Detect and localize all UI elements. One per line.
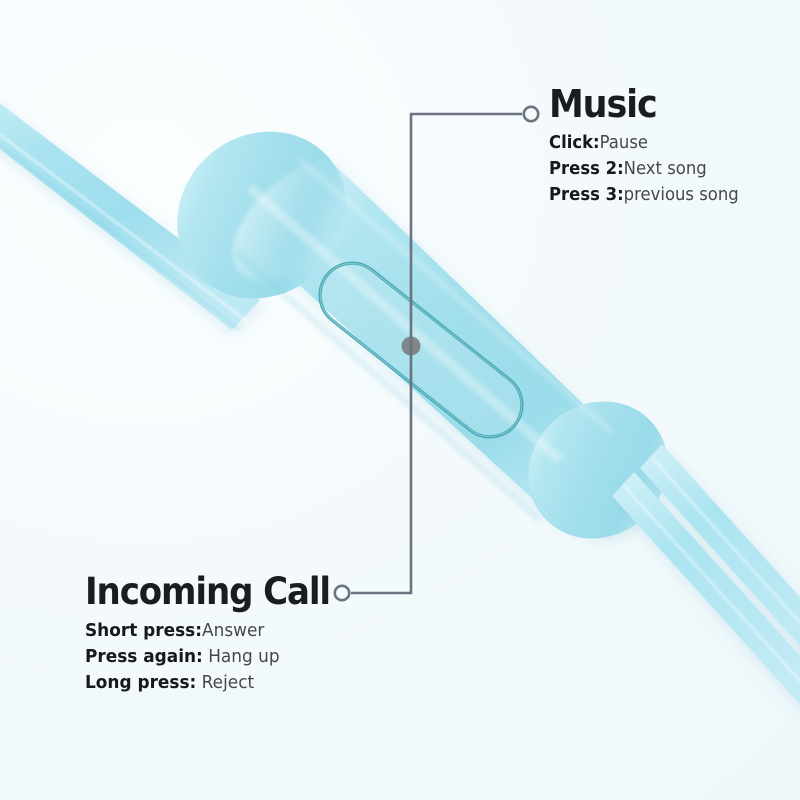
callout-music-line: Press 3:previous song <box>549 182 784 208</box>
callout-incoming-call-line-label: Press again: <box>85 646 203 667</box>
callout-incoming-call-line-value: Hang up <box>203 646 280 667</box>
music-leader-line <box>411 114 522 346</box>
callout-music-line: Press 2:Next song <box>549 156 784 182</box>
callout-incoming-call-title: Incoming Call <box>85 570 379 614</box>
callout-incoming-call-line-value: Reject <box>196 672 254 693</box>
callout-music: Music Click:Pause Press 2:Next song Pres… <box>549 82 799 208</box>
callout-incoming-call-line: Long press: Reject <box>85 670 386 696</box>
callout-incoming-call-line-label: Short press: <box>85 620 202 641</box>
callout-music-title: Music <box>549 82 779 126</box>
callout-incoming-call-line: Press again: Hang up <box>85 644 386 670</box>
callout-music-line-value: previous song <box>624 185 739 205</box>
callout-incoming-call-line-value: Answer <box>202 620 264 641</box>
incoming-call-leader-line <box>351 346 411 593</box>
callout-music-line: Click:Pause <box>549 130 784 156</box>
callout-music-line-label: Press 3: <box>549 185 624 205</box>
callout-incoming-call: Incoming Call Short press:Answer Press a… <box>85 570 405 696</box>
callout-music-line-value: Next song <box>624 159 707 179</box>
callout-music-line-label: Click: <box>549 133 600 153</box>
earphone-control-infographic: Music Click:Pause Press 2:Next song Pres… <box>0 0 800 800</box>
callout-incoming-call-lines: Short press:Answer Press again: Hang up … <box>85 618 405 696</box>
callout-incoming-call-line: Short press:Answer <box>85 618 386 644</box>
music-marker-circle <box>524 107 538 121</box>
callout-incoming-call-line-label: Long press: <box>85 672 196 693</box>
callout-music-line-value: Pause <box>600 133 648 153</box>
callout-music-line-label: Press 2: <box>549 159 624 179</box>
callout-music-lines: Click:Pause Press 2:Next song Press 3:pr… <box>549 130 799 208</box>
